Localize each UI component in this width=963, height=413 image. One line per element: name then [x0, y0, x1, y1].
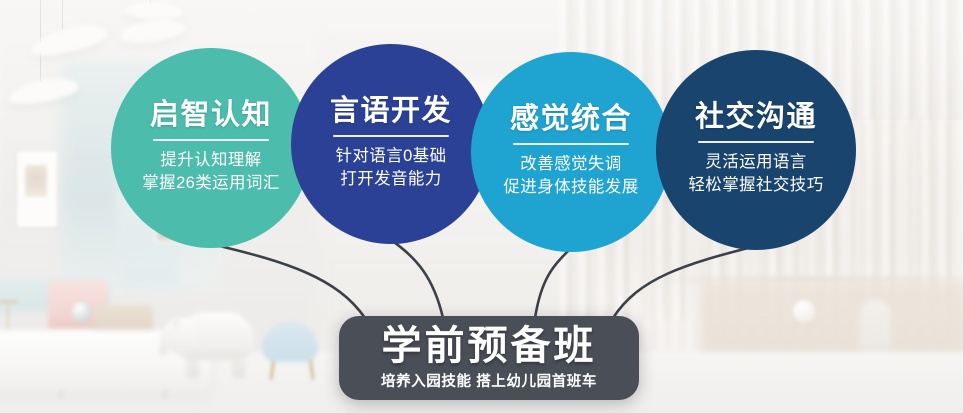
circle-title: 社交沟通 — [695, 103, 817, 132]
circle-title: 言语开发 — [330, 97, 452, 126]
circle-subtitle-line1: 改善感觉失调 — [520, 153, 621, 176]
circle-subtitle-line2: 促进身体技能发展 — [503, 176, 638, 199]
circle-divider — [698, 141, 814, 143]
circle-title: 感觉统合 — [510, 105, 632, 134]
program-banner[interactable]: 学前预备班 培养入园技能 搭上幼儿园首班车 — [339, 316, 639, 400]
feature-circle-sensory[interactable]: 感觉统合 改善感觉失调 促进身体技能发展 — [471, 52, 671, 252]
circle-divider — [153, 139, 269, 141]
circle-subtitle-line2: 打开发音能力 — [340, 168, 441, 191]
circle-subtitle-line1: 针对语言0基础 — [336, 145, 447, 168]
circle-divider — [333, 135, 449, 137]
circle-subtitle-line2: 掌握26类运用词汇 — [142, 172, 279, 195]
poster-stage: 启智认知 提升认知理解 掌握26类运用词汇 言语开发 针对语言0基础 打开发音能… — [0, 0, 963, 413]
circle-divider — [513, 143, 629, 145]
feature-circle-language[interactable]: 言语开发 针对语言0基础 打开发音能力 — [291, 44, 491, 244]
banner-title: 学前预备班 — [382, 326, 597, 366]
feature-circle-social[interactable]: 社交沟通 灵活运用语言 轻松掌握社交技巧 — [656, 50, 856, 250]
banner-subtitle: 培养入园技能 搭上幼儿园首班车 — [381, 370, 597, 391]
circle-subtitle-line1: 提升认知理解 — [160, 149, 261, 172]
feature-circle-cognition[interactable]: 启智认知 提升认知理解 掌握26类运用词汇 — [111, 48, 311, 248]
circle-subtitle-line2: 轻松掌握社交技巧 — [688, 174, 823, 197]
circle-title: 启智认知 — [150, 101, 272, 130]
circle-subtitle-line1: 灵活运用语言 — [705, 151, 806, 174]
